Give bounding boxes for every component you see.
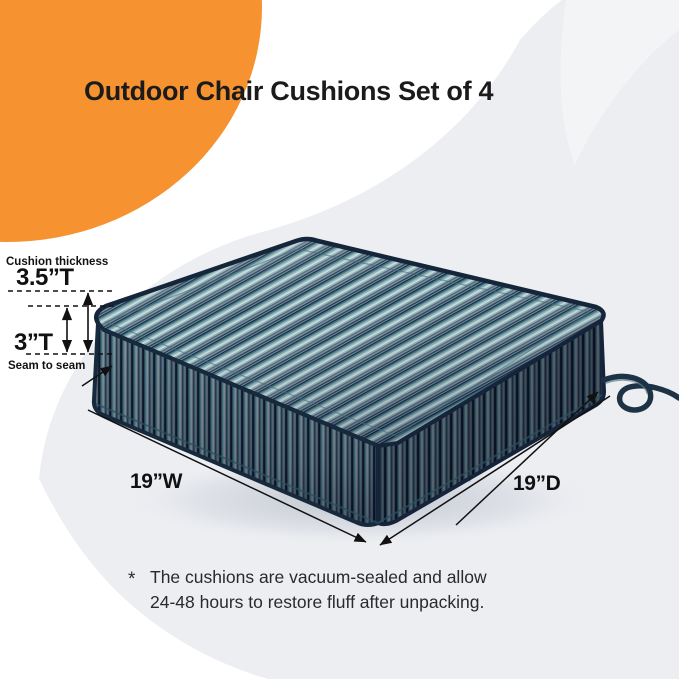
tie-strap-icon — [604, 376, 679, 410]
page-title: Outdoor Chair Cushions Set of 4 — [84, 76, 493, 107]
seam-to-seam-caption: Seam to seam — [8, 360, 85, 372]
seam-thickness-value: 3”T — [14, 329, 53, 357]
cushion-thickness-value: 3.5”T — [16, 264, 74, 292]
footnote: * The cushions are vacuum-sealed and all… — [128, 565, 598, 616]
footnote-line-1: The cushions are vacuum-sealed and allow — [128, 565, 598, 590]
footnote-line-2: 24-48 hours to restore fluff after unpac… — [128, 590, 598, 615]
infographic-canvas: Outdoor Chair Cushions Set of 4 — [0, 0, 679, 679]
asterisk-icon: * — [128, 566, 135, 594]
width-label: 19”W — [130, 470, 182, 494]
depth-label: 19”D — [513, 472, 560, 496]
